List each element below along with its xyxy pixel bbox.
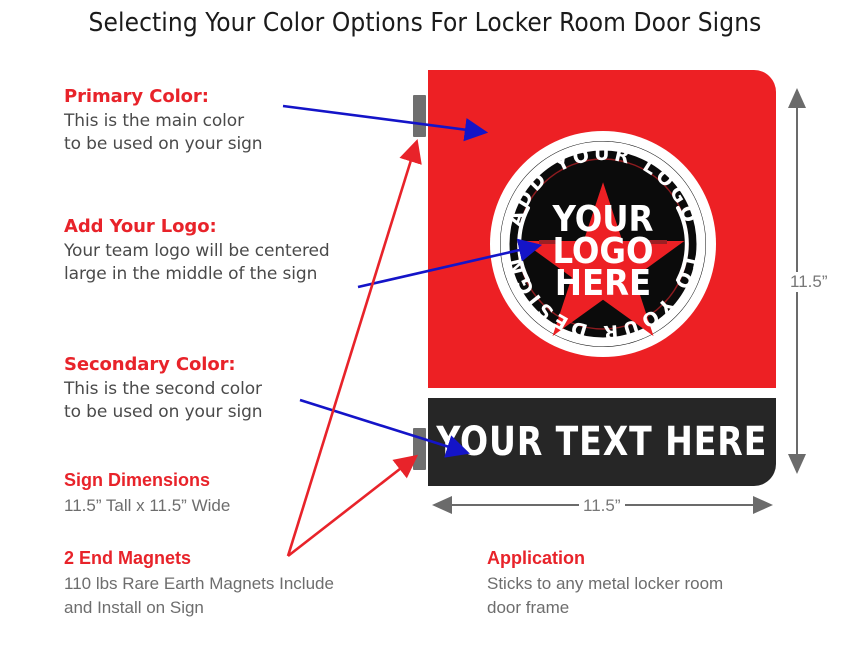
infographic-canvas: Selecting Your Color Options For Locker … [0,0,850,645]
callout-line: Your team logo will be centered [64,240,330,263]
callout-line: door frame [487,596,723,620]
callout-heading: Primary Color: [64,86,262,107]
sign-name-bar-text: YOUR TEXT HERE [437,419,768,465]
callout-heading: Add Your Logo: [64,216,330,237]
page-title: Selecting Your Color Options For Locker … [0,8,850,38]
callout-line: large in the middle of the sign [64,263,330,286]
callout-heading: 2 End Magnets [64,548,334,569]
callout-line: to be used on your sign [64,133,262,156]
magnet-bar-icon-bottom [413,428,426,470]
logo-badge: ADD YOUR LOGO TO YOUR DESIGN YOUR LOGO H… [487,128,719,360]
pointer-arrow-icon-magnet-bottom [288,458,414,556]
callout-heading: Sign Dimensions [64,470,230,491]
magnet-bar-icon-top [413,95,426,137]
callout-primary-color: Primary Color: This is the main color to… [64,86,262,156]
callout-line: 11.5” Tall x 11.5” Wide [64,494,230,518]
callout-line: 110 lbs Rare Earth Magnets Include [64,572,334,596]
callout-secondary-color: Secondary Color: This is the second colo… [64,354,262,424]
callout-line: to be used on your sign [64,401,262,424]
pointer-arrow-icon-magnet-top [288,144,416,556]
dimension-label-vertical: 11.5” [786,272,832,292]
callout-line: and Install on Sign [64,596,334,620]
dimension-label-horizontal: 11.5” [579,496,625,516]
callout-line: This is the main color [64,110,262,133]
callout-sign-dimensions: Sign Dimensions 11.5” Tall x 11.5” Wide [64,470,230,518]
badge-center-line-3: HERE [555,263,651,304]
callout-end-magnets: 2 End Magnets 110 lbs Rare Earth Magnets… [64,548,334,620]
sign-secondary-panel: YOUR TEXT HERE [428,398,776,486]
callout-application: Application Sticks to any metal locker r… [487,548,723,620]
callout-heading: Application [487,548,723,569]
callout-heading: Secondary Color: [64,354,262,375]
callout-add-your-logo: Add Your Logo: Your team logo will be ce… [64,216,330,286]
callout-line: Sticks to any metal locker room [487,572,723,596]
callout-line: This is the second color [64,378,262,401]
